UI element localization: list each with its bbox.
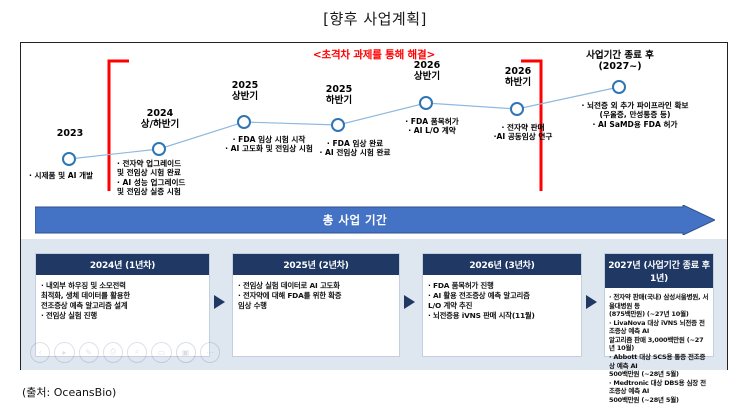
timeline-node-label-2024: 2024 상/하반기 — [121, 109, 199, 131]
timeline-node-label-2026h2: 2026 하반기 — [482, 67, 554, 89]
timeline-node — [238, 116, 250, 128]
separator-arrow-icon — [214, 295, 225, 309]
year-box-body: · 전임상 실험 데이터로 AI 고도화 · 전자약에 대해 FDA를 위한 확… — [233, 275, 399, 317]
page-title: [향후 사업계획] — [0, 8, 750, 29]
year-box-2026[interactable]: 2026년 (3년차) · FDA 품목허가 진행 · AI 활용 전조증상 예… — [422, 253, 582, 357]
timeline-node-label-2025h2: 2025 하반기 — [303, 85, 375, 107]
timeline-node-desc-2026h1: · FDA 품목허가 · AI L/O 계약 — [383, 117, 481, 136]
year-box-2024[interactable]: 2024년 (1년차) · 내외부 하우징 및 소모전력 최적화, 생체 데이터… — [35, 253, 210, 357]
year-box-title: 2026년 (3년차) — [423, 254, 581, 275]
timeline-node — [511, 103, 523, 115]
timeline-node-label-2023: 2023 — [35, 129, 105, 140]
year-box-body: · 내외부 하우징 및 소모전력 최적화, 생체 데이터를 활용한 전조증상 예… — [36, 275, 209, 327]
timeline-node-desc-2025h2: · FDA 임상 완료 · AI 전임상 시험 완료 — [293, 139, 417, 158]
timeline-node-desc-after: · 뇌전증 외 추가 파이프라인 확보 (우울증, 만성통증 등) · AI S… — [549, 101, 721, 129]
year-box-body: · 전자약 판매(국내) 삼성서울병원, 서울대병원 등 (875백만원) (~… — [605, 288, 713, 410]
timeline-node — [420, 97, 432, 109]
timeline-node-desc-2024: · 전자약 업그레이드 및 전임상 시험 완료 · AI 성능 업그레이드 및 … — [117, 159, 229, 197]
year-box-title: 2027년 (사업기간 종료 후 1년) — [605, 254, 713, 288]
timeline-node-label-after: 사업기간 종료 후 (2027~) — [561, 51, 679, 73]
timeline-node-label-2025h1: 2025 상반기 — [209, 81, 281, 103]
source-note: (출처: OceansBio) — [22, 384, 116, 400]
timeline-node — [613, 81, 625, 93]
year-plan-panel: 2024년 (1년차) · 내외부 하우징 및 소모전력 최적화, 생체 데이터… — [21, 239, 727, 370]
total-period-arrow: 총 사업 기간 — [35, 205, 715, 235]
year-box-title: 2024년 (1년차) — [36, 254, 209, 275]
timeline-chart: <초격차 과제를 통해 해결> 2023 2024 상/하반기 2025 상반기… — [21, 43, 727, 203]
year-box-title: 2025년 (2년차) — [233, 254, 399, 275]
separator-arrow-icon — [404, 295, 415, 309]
separator-arrow-icon — [586, 295, 597, 309]
timeline-node — [153, 143, 165, 155]
total-period-label: 총 사업 기간 — [35, 205, 675, 235]
year-box-body: · FDA 품목허가 진행 · AI 활용 전조증상 예측 알고리즘 L/O 계… — [423, 275, 581, 327]
timeline-node — [63, 153, 75, 165]
timeline-node-label-2026h1: 2026 상반기 — [391, 61, 463, 83]
diagram-frame: <초격차 과제를 통해 해결> 2023 2024 상/하반기 2025 상반기… — [20, 42, 728, 370]
timeline-node — [332, 119, 344, 131]
year-box-2027[interactable]: 2027년 (사업기간 종료 후 1년) · 전자약 판매(국내) 삼성서울병원… — [604, 253, 714, 357]
year-box-2025[interactable]: 2025년 (2년차) · 전임상 실험 데이터로 AI 고도화 · 전자약에 … — [232, 253, 400, 357]
